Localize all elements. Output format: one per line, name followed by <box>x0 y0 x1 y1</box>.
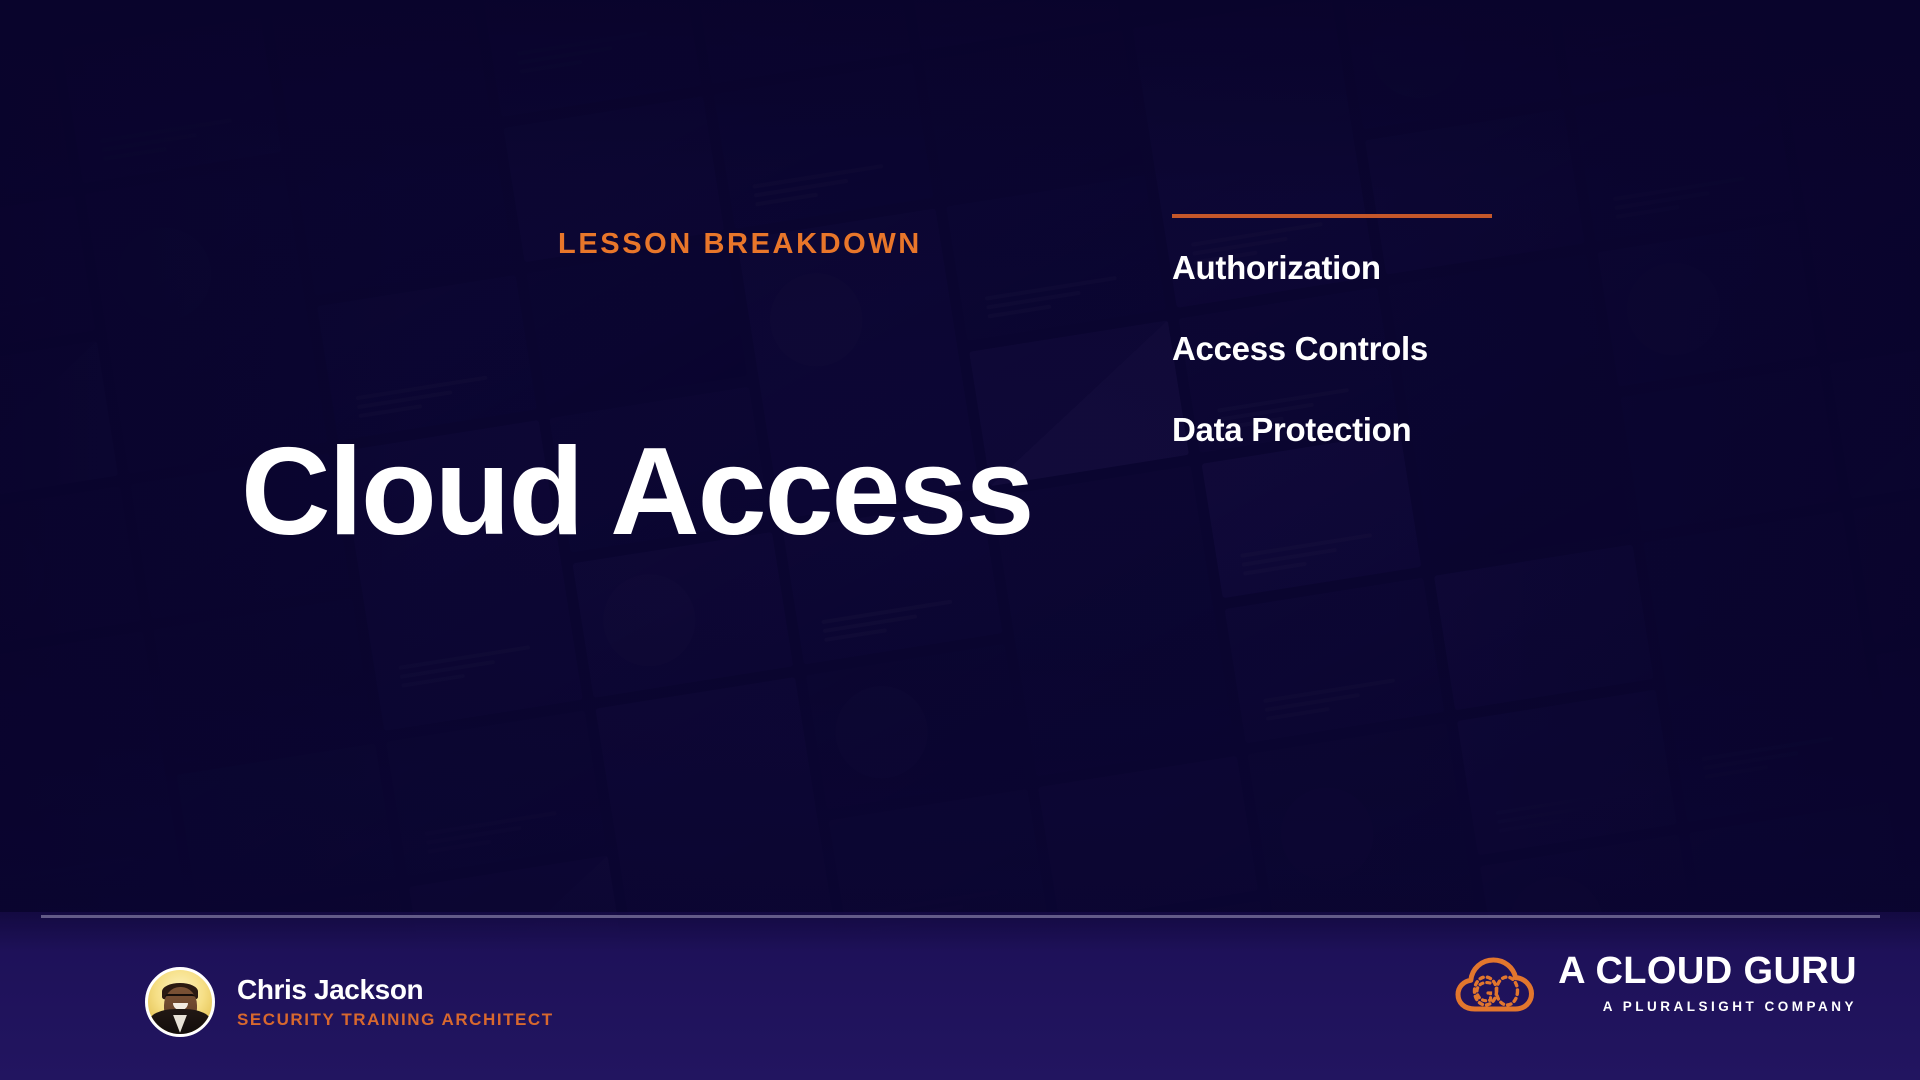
slide-canvas: LESSON BREAKDOWN Cloud Access Authorizat… <box>0 0 1920 1080</box>
lesson-breakdown-list: Authorization Access Controls Data Prote… <box>1172 214 1502 449</box>
brand-logo-block: A CLOUD GURU A PLURALSIGHT COMPANY <box>1455 952 1857 1016</box>
breakdown-item-data-protection: Data Protection <box>1172 411 1502 449</box>
presenter-block: Chris Jackson SECURITY TRAINING ARCHITEC… <box>145 967 554 1037</box>
accent-rule <box>1172 214 1492 218</box>
presenter-text: Chris Jackson SECURITY TRAINING ARCHITEC… <box>237 975 554 1029</box>
avatar <box>145 967 215 1037</box>
brand-tagline: A PLURALSIGHT COMPANY <box>1603 1000 1857 1015</box>
slide-content: LESSON BREAKDOWN Cloud Access Authorizat… <box>0 0 1920 1080</box>
breakdown-item-authorization: Authorization <box>1172 249 1502 287</box>
cloud-outline-icon <box>1455 954 1535 1016</box>
brand-name: A CLOUD GURU <box>1558 952 1857 992</box>
page-title: Cloud Access <box>241 430 1032 554</box>
eyebrow-label: LESSON BREAKDOWN <box>558 228 922 261</box>
brand-text: A CLOUD GURU A PLURALSIGHT COMPANY <box>1558 952 1857 1015</box>
glasses-icon <box>165 994 195 1002</box>
presenter-name: Chris Jackson <box>237 975 554 1006</box>
breakdown-item-access-controls: Access Controls <box>1172 330 1502 368</box>
presenter-role: SECURITY TRAINING ARCHITECT <box>237 1011 554 1030</box>
footer-divider <box>41 915 1880 918</box>
